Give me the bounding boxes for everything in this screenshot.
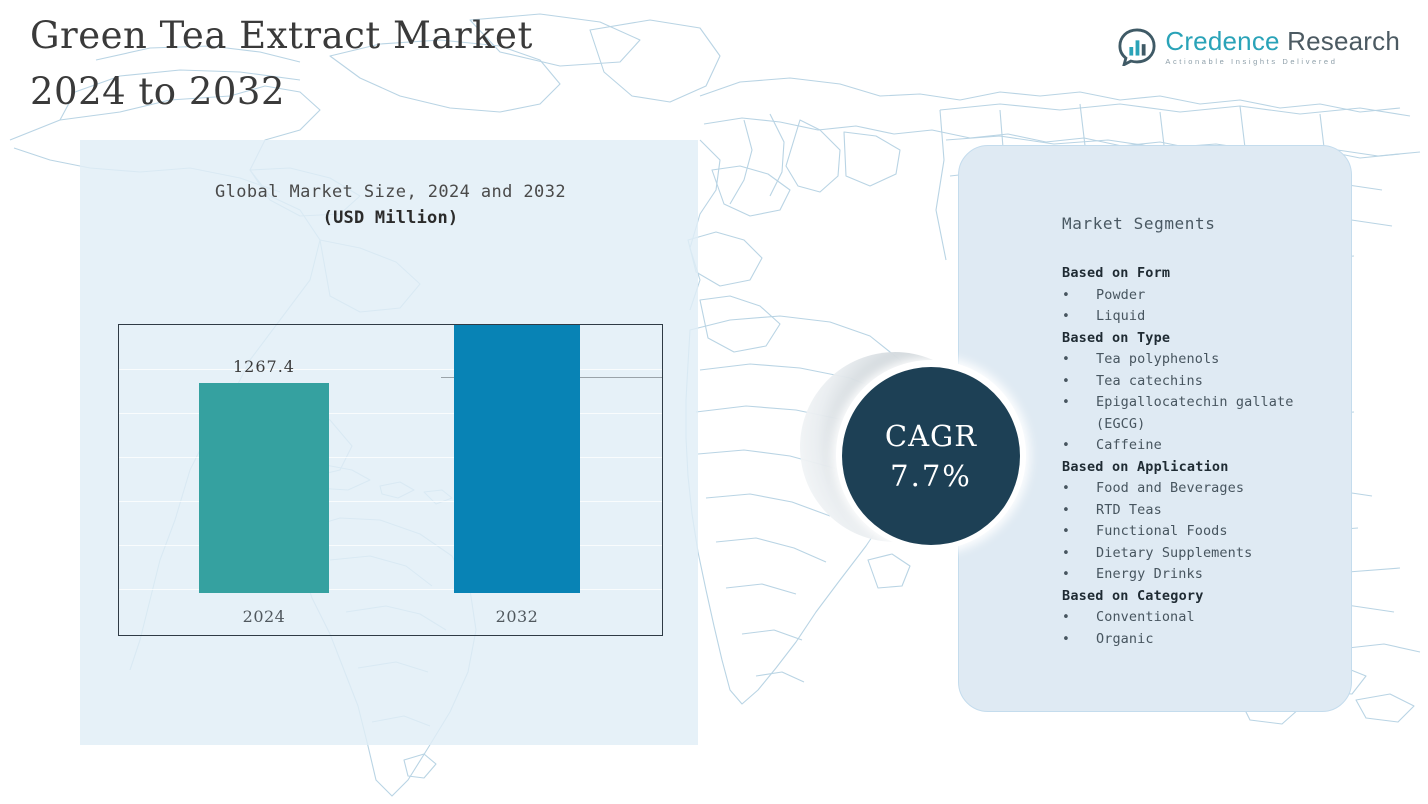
bar-chart-bubble-icon <box>1118 28 1156 66</box>
bar-chart: 1267.4 2024 2294.2 2032 <box>118 324 663 636</box>
segment-item: •Conventional <box>1062 607 1347 629</box>
segment-item: •Tea catechins <box>1062 371 1347 393</box>
segment-item-label: Liquid <box>1096 306 1347 328</box>
segment-item-label: Epigallocatechin gallate (EGCG) <box>1096 392 1347 435</box>
bar-2032[interactable] <box>454 324 580 593</box>
segment-item-label: Powder <box>1096 285 1347 307</box>
segment-item-label: Functional Foods <box>1096 521 1347 543</box>
bullet-icon: • <box>1062 392 1096 435</box>
segments-list: Based on Form•Powder•LiquidBased on Type… <box>1062 263 1347 650</box>
logo-wordmark: Credence Research <box>1165 28 1400 55</box>
segment-item-label: RTD Teas <box>1096 500 1347 522</box>
segment-item-label: Conventional <box>1096 607 1347 629</box>
segment-item: •Caffeine <box>1062 435 1347 457</box>
segment-item-label: Food and Beverages <box>1096 478 1347 500</box>
segment-item-label: Caffeine <box>1096 435 1347 457</box>
chart-title: Global Market Size, 2024 and 2032 <box>118 182 663 202</box>
cagr-circle: CAGR 7.7% <box>842 367 1020 545</box>
segment-item: •Tea polyphenols <box>1062 349 1347 371</box>
segment-group-title: Based on Category <box>1062 586 1347 608</box>
segment-item-label: Organic <box>1096 629 1347 651</box>
segment-item-label: Tea catechins <box>1096 371 1347 393</box>
segment-item: •Epigallocatechin gallate (EGCG) <box>1062 392 1347 435</box>
bullet-icon: • <box>1062 349 1096 371</box>
segment-item: •Functional Foods <box>1062 521 1347 543</box>
segment-item-label: Dietary Supplements <box>1096 543 1347 565</box>
plot-area: 1267.4 2024 2294.2 2032 <box>119 325 663 636</box>
bullet-icon: • <box>1062 500 1096 522</box>
bullet-icon: • <box>1062 543 1096 565</box>
bar-2024[interactable] <box>199 383 329 593</box>
bullet-icon: • <box>1062 435 1096 457</box>
bullet-icon: • <box>1062 478 1096 500</box>
bullet-icon: • <box>1062 306 1096 328</box>
segment-group-title: Based on Type <box>1062 328 1347 350</box>
segment-group-title: Based on Form <box>1062 263 1347 285</box>
bullet-icon: • <box>1062 521 1096 543</box>
segment-item: •Liquid <box>1062 306 1347 328</box>
cagr-value: 7.7% <box>890 456 972 496</box>
segment-item: •RTD Teas <box>1062 500 1347 522</box>
bullet-icon: • <box>1062 285 1096 307</box>
bar-category-2032: 2032 <box>437 607 597 626</box>
logo-tagline: Actionable Insights Delivered <box>1165 57 1400 66</box>
bar-value-2024: 1267.4 <box>184 357 344 376</box>
market-segments: Market Segments Based on Form•Powder•Liq… <box>1062 214 1347 650</box>
segment-item-label: Tea polyphenols <box>1096 349 1347 371</box>
segment-group-title: Based on Application <box>1062 457 1347 479</box>
brand-logo[interactable]: Credence Research Actionable Insights De… <box>1118 28 1400 66</box>
bullet-icon: • <box>1062 564 1096 586</box>
segment-item: •Organic <box>1062 629 1347 651</box>
bullet-icon: • <box>1062 629 1096 651</box>
segments-heading: Market Segments <box>1062 214 1347 233</box>
logo-word-credence: Credence <box>1165 26 1279 56</box>
segment-item: •Powder <box>1062 285 1347 307</box>
logo-text-block: Credence Research Actionable Insights De… <box>1165 28 1400 66</box>
chart-subtitle: (USD Million) <box>118 208 663 228</box>
segment-item: •Dietary Supplements <box>1062 543 1347 565</box>
bullet-icon: • <box>1062 607 1096 629</box>
segment-item: •Food and Beverages <box>1062 478 1347 500</box>
segment-item-label: Energy Drinks <box>1096 564 1347 586</box>
chart-title-block: Global Market Size, 2024 and 2032 (USD M… <box>118 182 663 228</box>
logo-word-research: Research <box>1280 26 1400 56</box>
bullet-icon: • <box>1062 371 1096 393</box>
cagr-label: CAGR <box>885 416 977 456</box>
segment-item: •Energy Drinks <box>1062 564 1347 586</box>
page-title: Green Tea Extract Market 2024 to 2032 <box>30 8 533 120</box>
bar-category-2024: 2024 <box>184 607 344 626</box>
cagr-badge: CAGR 7.7% <box>800 352 1040 562</box>
